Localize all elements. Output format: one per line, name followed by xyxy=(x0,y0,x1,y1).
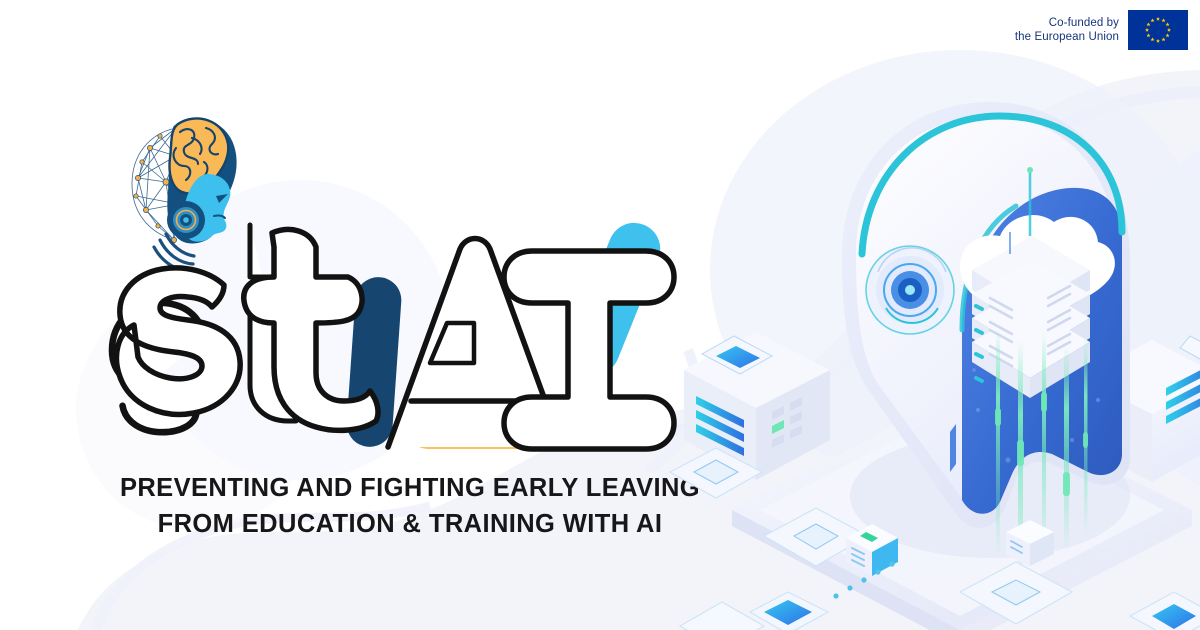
letter-outlines-group xyxy=(116,229,378,430)
tagline-line-2: FROM EDUCATION & TRAINING WITH AI xyxy=(60,506,760,542)
stai-wordmark-svg xyxy=(104,215,684,465)
letter-s-outline xyxy=(116,268,240,414)
tagline-line-1: PREVENTING AND FIGHTING EARLY LEAVING xyxy=(60,470,760,506)
isometric-ai-head-illustration xyxy=(660,40,1200,630)
isometric-illustration-svg xyxy=(660,40,1200,630)
robot-eye-sensor-icon xyxy=(866,246,954,334)
stai-wordmark xyxy=(104,215,684,465)
chip-tile-bottom-right xyxy=(1130,592,1200,630)
chip-tile-bottom-left xyxy=(680,592,828,630)
page-title: PREVENTING AND FIGHTING EARLY LEAVING FR… xyxy=(60,470,760,542)
poster-canvas: Co-funded by the European Union xyxy=(0,0,1200,630)
